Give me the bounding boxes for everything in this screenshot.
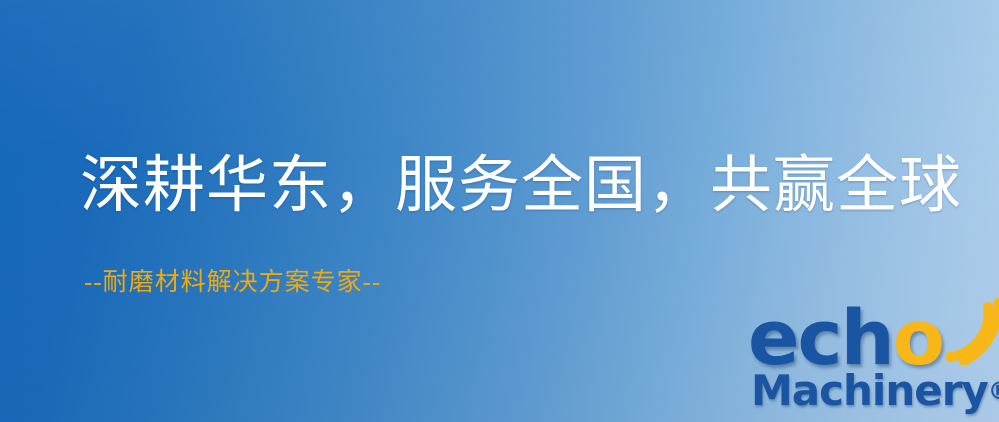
- logo-tagline: Machinery®: [751, 368, 999, 414]
- banner-headline: 深耕华东，服务全国，共赢全球: [80, 150, 962, 222]
- promo-banner: 深耕华东，服务全国，共赢全球 --耐磨材料解决方案专家-- echo Machi…: [0, 0, 999, 422]
- registered-trademark-icon: ®: [988, 377, 999, 405]
- echo-signal-waves-icon: [930, 295, 999, 365]
- banner-subtitle: --耐磨材料解决方案专家--: [84, 268, 381, 298]
- echo-machinery-logo: echo Machinery®: [748, 300, 999, 422]
- logo-wordmark: echo: [748, 300, 943, 376]
- logo-tagline-text: Machinery: [751, 366, 988, 415]
